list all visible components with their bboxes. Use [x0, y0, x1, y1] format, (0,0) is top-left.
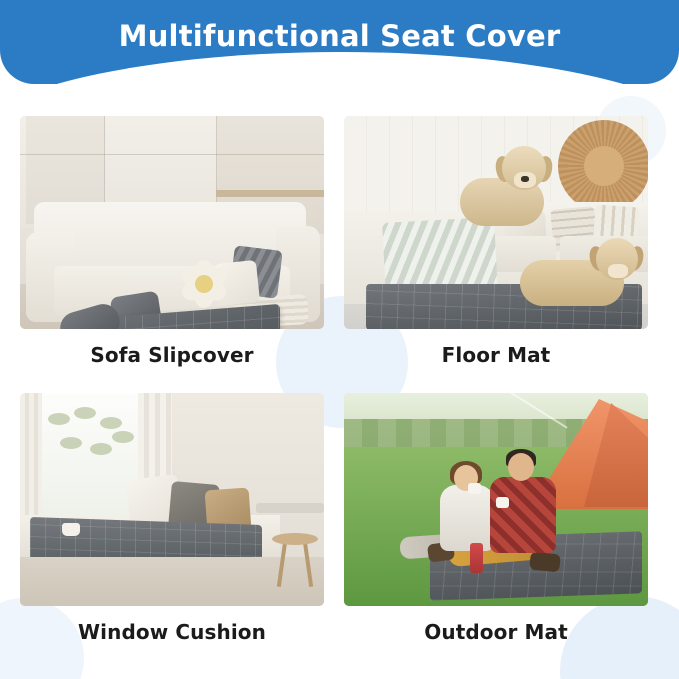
header-banner: Multifunctional Seat Cover	[0, 0, 679, 84]
window-foliage	[44, 407, 134, 479]
stool-top	[272, 533, 318, 545]
photo-floor-mat	[344, 116, 648, 329]
cup-woman	[468, 483, 481, 494]
wooden-stool	[272, 533, 318, 591]
daisy-center	[195, 275, 213, 293]
photo-window-cushion	[20, 393, 324, 606]
wall-molding	[20, 154, 324, 155]
cup	[62, 523, 80, 536]
product-infographic: Multifunctional Seat Cover	[0, 0, 679, 679]
side-table	[256, 503, 324, 513]
dog-snout	[608, 264, 628, 278]
woman-torso	[440, 485, 494, 551]
dog-lying	[520, 238, 640, 308]
stool-leg-left	[277, 541, 287, 587]
cup-man	[496, 497, 509, 508]
panel-window-cushion: Window Cushion	[20, 393, 324, 644]
man-torso-plaid-shirt	[490, 477, 556, 553]
caption-window-cushion: Window Cushion	[20, 620, 324, 644]
photo-sofa-slipcover	[20, 116, 324, 329]
daisy-cushion	[178, 258, 230, 310]
dog-nose	[521, 176, 529, 182]
caption-outdoor-mat: Outdoor Mat	[344, 620, 648, 644]
wooden-shelf	[216, 190, 324, 197]
caption-sofa-slipcover: Sofa Slipcover	[20, 343, 324, 367]
page-title: Multifunctional Seat Cover	[119, 19, 561, 53]
panel-outdoor-mat: Outdoor Mat	[344, 393, 648, 644]
stool-leg-right	[303, 541, 313, 587]
panel-sofa-slipcover: Sofa Slipcover	[20, 116, 324, 367]
woven-sunburst-center	[584, 146, 624, 186]
boot-right	[529, 551, 561, 572]
panel-floor-mat: Floor Mat	[344, 116, 648, 367]
red-bottle	[470, 543, 483, 573]
man-head	[508, 453, 534, 481]
photo-outdoor-mat	[344, 393, 648, 606]
dog-standing	[452, 144, 548, 230]
panel-grid: Sofa Slipcover	[0, 96, 679, 662]
caption-floor-mat: Floor Mat	[344, 343, 648, 367]
